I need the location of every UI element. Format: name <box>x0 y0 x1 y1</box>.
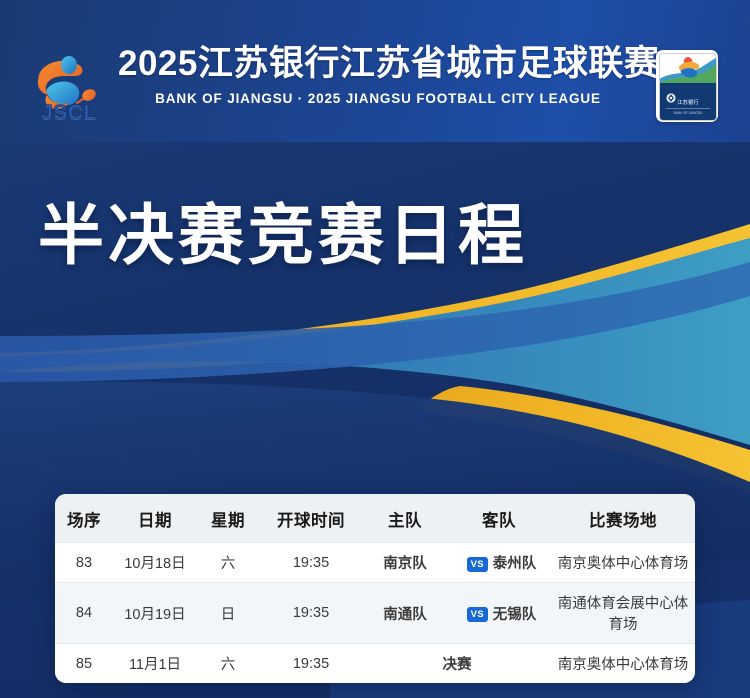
cell-match-no: 85 <box>55 644 113 684</box>
vs-badge: VS <box>467 557 488 572</box>
cell-kickoff: 19:35 <box>259 543 363 583</box>
sponsor-name: 江苏银行 <box>660 99 716 106</box>
cell-home-team: 南京队 <box>363 543 447 583</box>
col-header-date: 日期 <box>113 494 197 543</box>
col-header-weekday: 星期 <box>197 494 259 543</box>
cell-date: 10月19日 <box>113 583 197 644</box>
col-header-kickoff: 开球时间 <box>259 494 363 543</box>
cell-final-label: 决赛 <box>363 644 551 684</box>
league-title-cn: 2025江苏银行江苏省城市足球联赛 <box>118 42 638 86</box>
league-title-en: BANK OF JIANGSU · 2025 JIANGSU FOOTBALL … <box>118 91 638 106</box>
cell-weekday: 日 <box>197 583 259 644</box>
cell-venue: 南京奥体中心体育场 <box>551 644 695 684</box>
schedule-table-body: 83 10月18日 六 19:35 南京队 VS泰州队 南京奥体中心体育场 84… <box>55 543 695 684</box>
cell-date: 11月1日 <box>113 644 197 684</box>
bank-of-jiangsu-badge-icon <box>660 54 716 84</box>
schedule-table-head: 场序 日期 星期 开球时间 主队 客队 比赛场地 <box>55 494 695 543</box>
sponsor-name-en: BANK OF JIANGSU <box>666 108 710 115</box>
table-row: 85 11月1日 六 19:35 决赛 南京奥体中心体育场 <box>55 644 695 684</box>
cell-away-team: VS泰州队 <box>447 543 551 583</box>
header-banner: JSCL 2025江苏银行江苏省城市足球联赛 BANK OF JIANGSU ·… <box>0 0 750 142</box>
cell-weekday: 六 <box>197 543 259 583</box>
page-title: 半决赛竞赛日程 <box>38 196 528 274</box>
cell-home-team: 南通队 <box>363 583 447 644</box>
col-header-venue: 比赛场地 <box>551 494 695 543</box>
cell-date: 10月18日 <box>113 543 197 583</box>
schedule-table: 场序 日期 星期 开球时间 主队 客队 比赛场地 83 10月18日 六 19:… <box>55 494 695 683</box>
cell-away-team: VS无锡队 <box>447 583 551 644</box>
jscl-logo: JSCL <box>27 45 111 129</box>
col-header-match-no: 场序 <box>55 494 113 543</box>
away-team-label: 无锡队 <box>493 607 537 623</box>
col-header-away-team: 客队 <box>447 494 551 543</box>
sponsor-badge: 江苏银行 BANK OF JIANGSU <box>656 50 718 122</box>
table-row: 83 10月18日 六 19:35 南京队 VS泰州队 南京奥体中心体育场 <box>55 543 695 583</box>
cell-kickoff: 19:35 <box>259 644 363 684</box>
cell-kickoff: 19:35 <box>259 583 363 644</box>
vs-badge: VS <box>467 607 488 622</box>
cell-match-no: 84 <box>55 583 113 644</box>
jscl-wordmark: JSCL <box>27 101 111 125</box>
away-team-label: 泰州队 <box>493 556 537 572</box>
schedule-card: 场序 日期 星期 开球时间 主队 客队 比赛场地 83 10月18日 六 19:… <box>55 494 695 683</box>
title-block: 2025江苏银行江苏省城市足球联赛 BANK OF JIANGSU · 2025… <box>118 42 638 106</box>
cell-weekday: 六 <box>197 644 259 684</box>
table-row: 84 10月19日 日 19:35 南通队 VS无锡队 南通体育会展中心体育场 <box>55 583 695 644</box>
table-header-row: 场序 日期 星期 开球时间 主队 客队 比赛场地 <box>55 494 695 543</box>
cell-match-no: 83 <box>55 543 113 583</box>
cell-venue: 南京奥体中心体育场 <box>551 543 695 583</box>
col-header-home-team: 主队 <box>363 494 447 543</box>
poster-root: JSCL 2025江苏银行江苏省城市足球联赛 BANK OF JIANGSU ·… <box>0 0 750 698</box>
cell-venue: 南通体育会展中心体育场 <box>551 583 695 644</box>
